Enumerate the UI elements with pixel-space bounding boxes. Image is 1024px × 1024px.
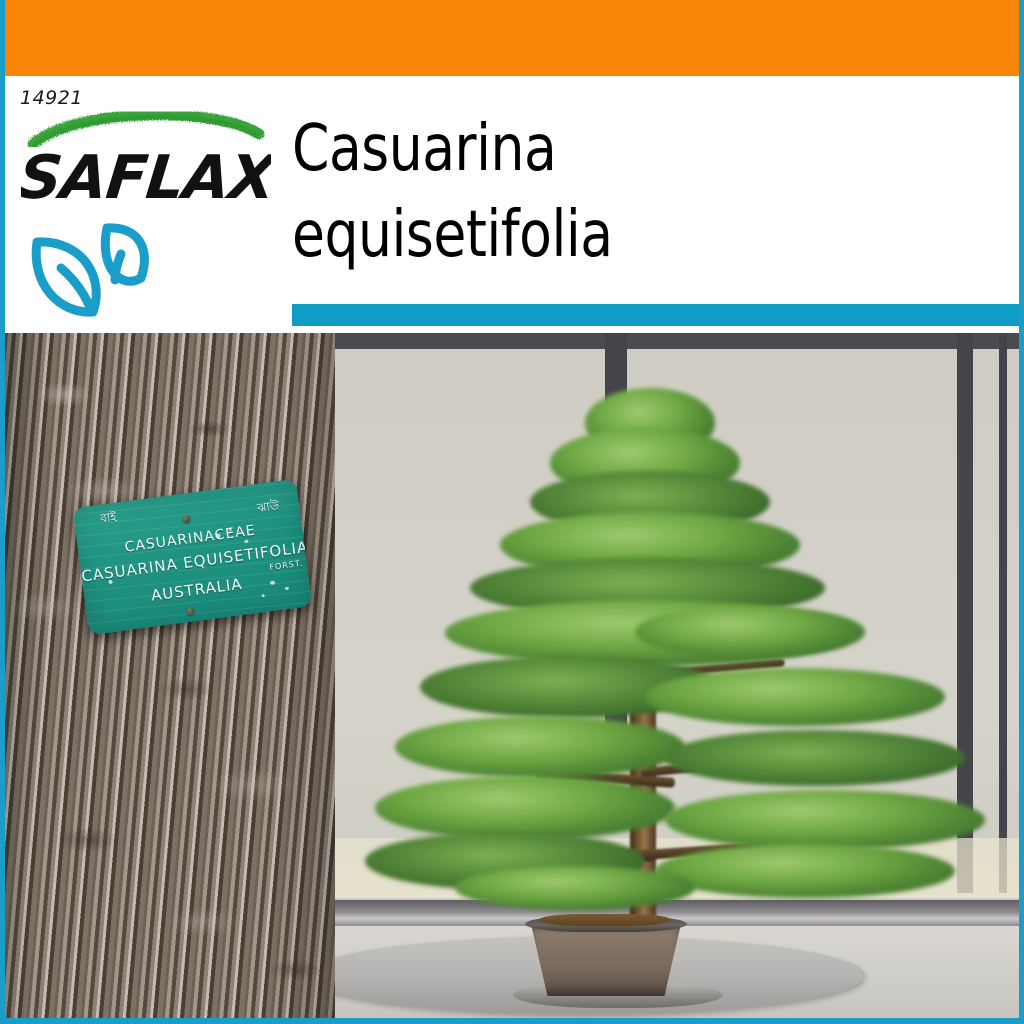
- bark-mottle: [5, 333, 335, 1018]
- bonsai-foliage-pad: [665, 730, 965, 786]
- bonsai-foliage-pad: [665, 790, 985, 850]
- paint-fleck: [244, 540, 248, 543]
- species-name-line-1: Casuarina: [292, 106, 962, 192]
- bonsai-pot: [531, 924, 681, 996]
- brand-wordmark: SAFLAX: [21, 138, 271, 216]
- window-mullion-right-2: [999, 333, 1007, 893]
- bonsai-photo: [335, 333, 1019, 1018]
- bonsai-foliage-pad: [455, 866, 695, 910]
- header: 14921 SAFLAX: [5, 76, 1019, 333]
- svg-text:SAFLAX: SAFLAX: [21, 143, 271, 213]
- window-frame-top: [335, 333, 1019, 349]
- bonsai-foliage-pad: [645, 668, 945, 726]
- seed-packet-label: 14921 SAFLAX: [0, 0, 1024, 1024]
- sign-native-text-right: ঝাউ: [256, 497, 280, 520]
- bonsai-pot-soil: [539, 914, 671, 926]
- brand-logo: SAFLAX: [13, 100, 283, 330]
- leaf-pair-icon: [21, 212, 161, 322]
- photo-area: বাই ঝাউ CASUARINACEAE CASUARINA EQUISETI…: [5, 333, 1019, 1018]
- species-name-line-2: equisetifolia: [292, 192, 962, 278]
- sign-screw: [187, 607, 195, 615]
- bonsai-foliage-pad: [655, 844, 955, 898]
- blue-accent-bar: [292, 304, 1019, 326]
- top-orange-band: [5, 0, 1019, 76]
- paint-fleck: [285, 587, 289, 590]
- bonsai-foliage-pad: [375, 776, 675, 840]
- paint-fleck: [261, 594, 264, 597]
- sign-screw: [183, 515, 191, 523]
- page-title: Casuarina equisetifolia: [292, 106, 1012, 278]
- bonsai-foliage-pad: [635, 606, 865, 658]
- sign-native-text-left: বাই: [99, 509, 118, 531]
- bark-photo: বাই ঝাউ CASUARINACEAE CASUARINA EQUISETI…: [5, 333, 335, 1018]
- bonsai-foliage-pad: [395, 716, 685, 778]
